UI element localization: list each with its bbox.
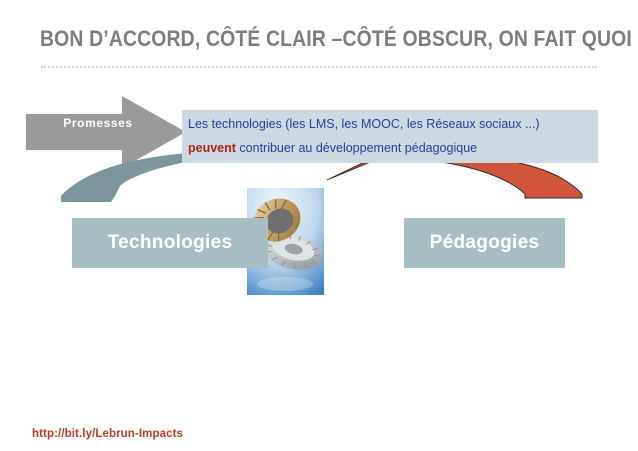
pedagogies-box: Pédagogies: [404, 218, 565, 268]
statement-line-2: peuvent contribuer au développement péda…: [188, 140, 477, 156]
statement-keyword: peuvent: [188, 141, 236, 155]
statement-panel: Les technologies (les LMS, les MOOC, les…: [182, 110, 598, 163]
slide-canvas: BON D’ACCORD, CÔTÉ CLAIR –CÔTÉ OBSCUR, O…: [0, 0, 638, 451]
footer-link[interactable]: http://bit.ly/Lebrun-Impacts: [32, 428, 183, 440]
technologies-box: Technologies: [72, 218, 268, 268]
page-title: BON D’ACCORD, CÔTÉ CLAIR –CÔTÉ OBSCUR, O…: [40, 26, 542, 52]
title-divider: [41, 66, 597, 68]
promesses-label: Promesses: [55, 116, 141, 130]
statement-line-2-rest: contribuer au développement pédagogique: [236, 141, 477, 155]
statement-line-1: Les technologies (les LMS, les MOOC, les…: [188, 116, 540, 132]
